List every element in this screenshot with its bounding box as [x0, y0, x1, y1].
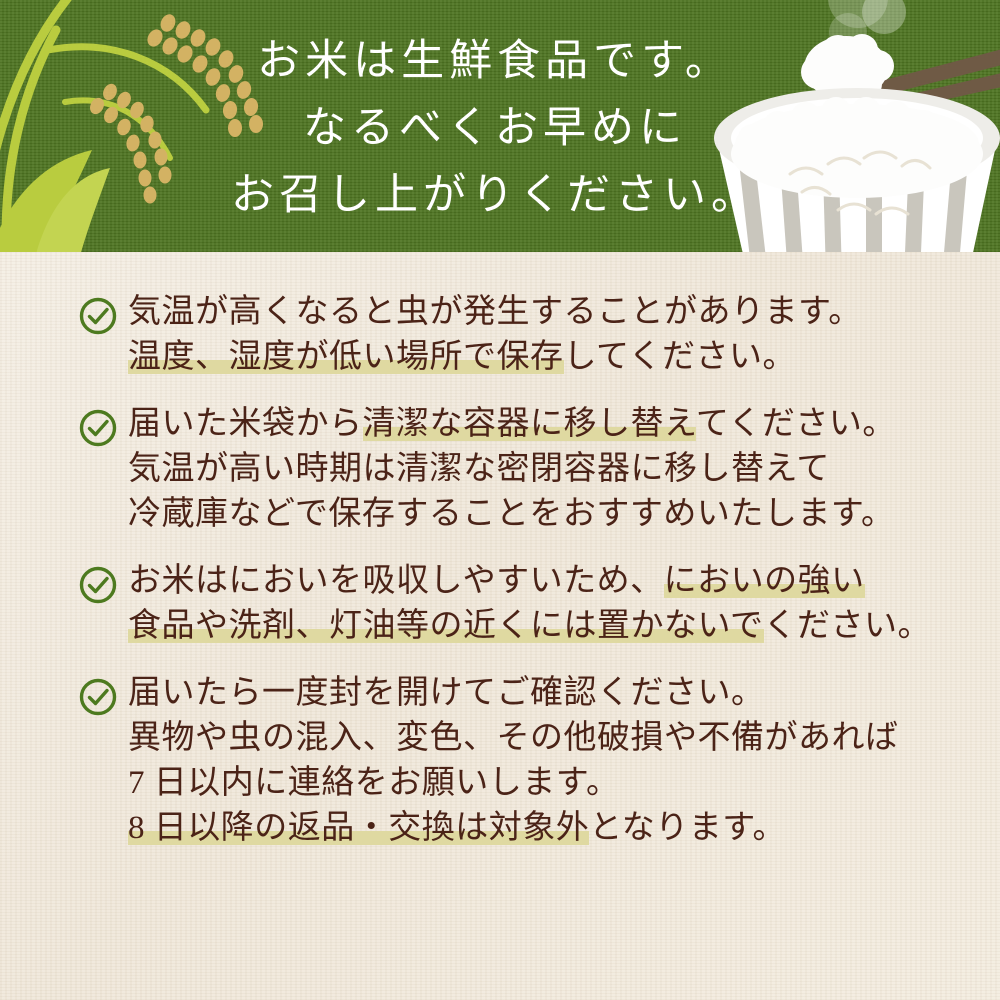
notice-line: 届いたら一度封を開けてご確認ください。: [128, 671, 958, 716]
notice-segment: 異物や虫の混入、変色、その他破損や不備があれば: [128, 720, 899, 756]
header-banner: お米は生鮮食品です。 なるべくお早めに お召し上がりください。: [0, 0, 1000, 252]
notice-text-block: お米はにおいを吸収しやすいため、においの強い 食品や洗剤、灯油等の近くには置かな…: [128, 559, 958, 649]
notice-line: 届いた米袋から清潔な容器に移し替えてください。: [128, 402, 958, 447]
list-item: お米はにおいを吸収しやすいため、においの強い 食品や洗剤、灯油等の近くには置かな…: [78, 559, 958, 649]
notice-body: 気温が高くなると虫が発生することがあります。 温度、湿度が低い場所で保存してくだ…: [0, 252, 1000, 1000]
notice-line: 気温が高い時期は清潔な密閉容器に移し替えて: [128, 447, 958, 492]
notice-text-block: 届いた米袋から清潔な容器に移し替えてください。 気温が高い時期は清潔な密閉容器に…: [128, 402, 958, 537]
notice-line: 異物や虫の混入、変色、その他破損や不備があれば: [128, 716, 958, 761]
notice-segment-highlighted: 清潔な容器に移し替え: [363, 406, 696, 442]
check-circle-icon: [78, 565, 118, 605]
notice-segment: 気温が高くなると虫が発生することがあります。: [128, 294, 862, 330]
notice-segment-highlighted: 8 日以降の返品・交換は対象外: [128, 810, 589, 846]
notice-segment: してください。: [564, 339, 797, 375]
header-title: お米は生鮮食品です。 なるべくお早めに お召し上がりください。: [215, 28, 775, 229]
header-title-line-1: お米は生鮮食品です。: [215, 28, 775, 95]
rice-storage-notice-page: お米は生鮮食品です。 なるべくお早めに お召し上がりください。: [0, 0, 1000, 1000]
notice-segment: 気温が高い時期は清潔な密閉容器に移し替えて: [128, 451, 830, 487]
list-item: 届いた米袋から清潔な容器に移し替えてください。 気温が高い時期は清潔な密閉容器に…: [78, 402, 958, 537]
notice-segment: 届いたら一度封を開けてご確認ください。: [128, 675, 765, 711]
notice-segment: 7 日以内に連絡をお願いします。: [128, 765, 619, 801]
notice-segment: お米はにおいを吸収しやすいため、: [128, 563, 664, 599]
notice-segment-highlighted: 食品や洗剤、灯油等の近くには置かないで: [128, 608, 764, 644]
header-title-line-3: お召し上がりください。: [215, 162, 775, 229]
check-circle-icon: [78, 677, 118, 717]
notice-segment-highlighted: 温度、湿度が低い場所で保存: [128, 339, 564, 375]
notice-line: 食品や洗剤、灯油等の近くには置かないでください。: [128, 604, 958, 649]
notice-segment: ください。: [764, 608, 932, 644]
notice-text-block: 届いたら一度封を開けてご確認ください。 異物や虫の混入、変色、その他破損や不備が…: [128, 671, 958, 851]
check-circle-icon: [78, 408, 118, 448]
notice-line: 7 日以内に連絡をお願いします。: [128, 761, 958, 806]
notice-list: 気温が高くなると虫が発生することがあります。 温度、湿度が低い場所で保存してくだ…: [78, 290, 958, 851]
list-item: 気温が高くなると虫が発生することがあります。 温度、湿度が低い場所で保存してくだ…: [78, 290, 958, 380]
notice-segment: 冷蔵庫などで保存することをおすすめいたします。: [128, 496, 895, 532]
notice-line: 冷蔵庫などで保存することをおすすめいたします。: [128, 492, 958, 537]
notice-line: 気温が高くなると虫が発生することがあります。: [128, 290, 958, 335]
notice-segment-highlighted: においの強い: [664, 563, 865, 599]
header-title-line-2: なるべくお早めに: [215, 95, 775, 162]
check-circle-icon: [78, 296, 118, 336]
notice-line: 8 日以降の返品・交換は対象外となります。: [128, 806, 958, 851]
list-item: 届いたら一度封を開けてご確認ください。 異物や虫の混入、変色、その他破損や不備が…: [78, 671, 958, 851]
notice-segment: となります。: [589, 810, 786, 846]
notice-text-block: 気温が高くなると虫が発生することがあります。 温度、湿度が低い場所で保存してくだ…: [128, 290, 958, 380]
notice-segment: てください。: [696, 406, 896, 442]
notice-line: お米はにおいを吸収しやすいため、においの強い: [128, 559, 958, 604]
notice-line: 温度、湿度が低い場所で保存してください。: [128, 335, 958, 380]
notice-segment: 届いた米袋から: [128, 406, 363, 442]
